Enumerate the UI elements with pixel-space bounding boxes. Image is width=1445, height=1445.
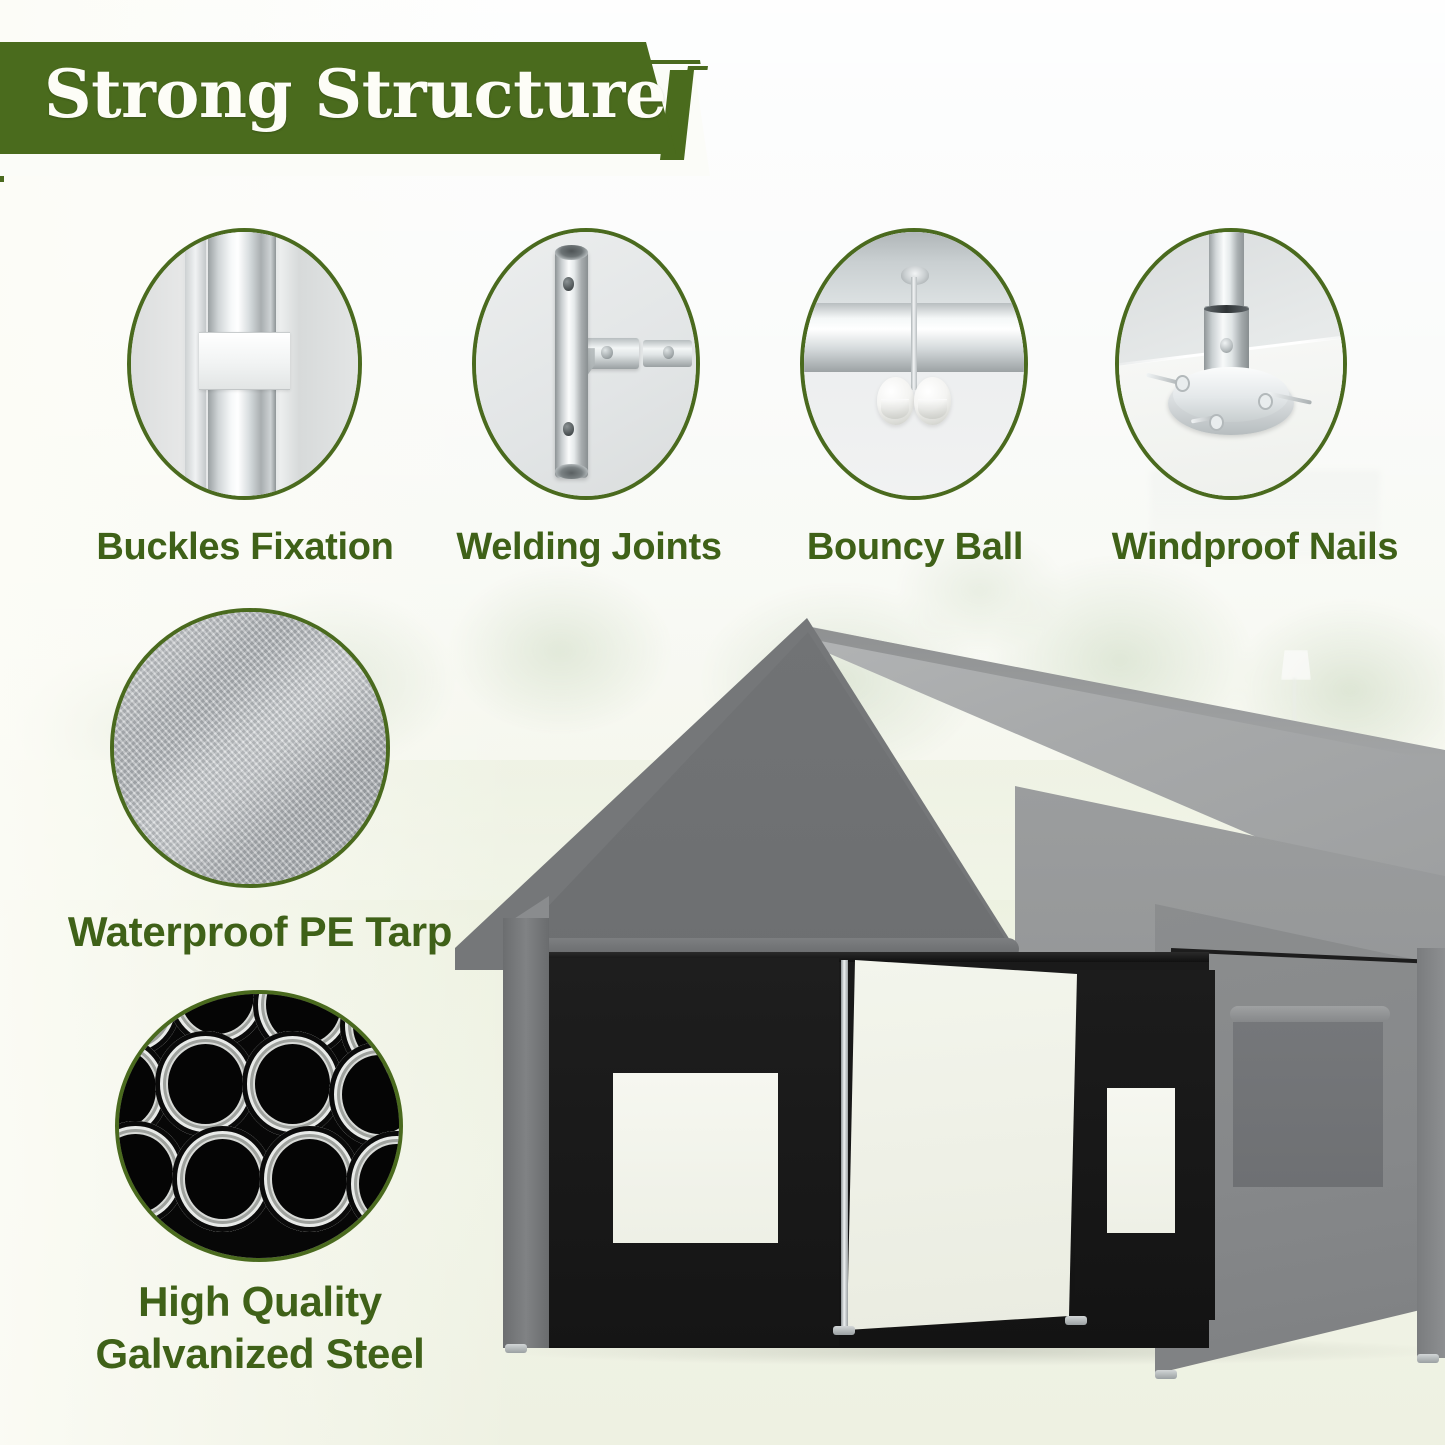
infographic-canvas: Strong Structure Buckles Fixation Weldin… xyxy=(0,0,1445,1445)
feature-label-welding-joints: Welding Joints xyxy=(424,526,754,569)
carport-front-leg xyxy=(503,918,549,1348)
welding-joints-icon xyxy=(472,228,700,500)
bouncy-ball-icon xyxy=(800,228,1028,500)
waterproof-pe-tarp-icon xyxy=(110,608,390,888)
windproof-nails-icon xyxy=(1115,228,1347,500)
feature-label-buckles-fixation: Buckles Fixation xyxy=(60,526,430,569)
carport-foot-plate xyxy=(1417,1354,1439,1363)
carport-foot-plate xyxy=(505,1344,527,1353)
header-banner: Strong Structure xyxy=(0,36,760,186)
carport-canopy-product xyxy=(455,618,1445,1418)
feature-label-bouncy-ball: Bouncy Ball xyxy=(760,526,1070,569)
carport-rear-panel-window xyxy=(1107,1088,1175,1233)
carport-front-panel-window xyxy=(613,1073,778,1243)
carport-foot-plate xyxy=(1065,1316,1087,1325)
page-title: Strong Structure xyxy=(44,44,644,144)
carport-foot-plate xyxy=(1155,1370,1177,1379)
carport-side-window xyxy=(1233,1022,1383,1187)
carport-rear-leg xyxy=(1417,948,1445,1358)
galvanized-steel-icon xyxy=(115,990,403,1262)
feature-label-galvanized-steel-line1: High Quality xyxy=(40,1278,480,1325)
carport-open-door-panel xyxy=(847,960,1077,1330)
carport-foot-plate xyxy=(833,1326,855,1335)
carport-rolled-awning xyxy=(1230,1006,1390,1022)
feature-label-waterproof-pe-tarp: Waterproof PE Tarp xyxy=(50,908,470,955)
feature-label-windproof-nails: Windproof Nails xyxy=(1070,526,1440,569)
feature-label-galvanized-steel-line2: Galvanized Steel xyxy=(40,1330,480,1377)
buckles-fixation-icon xyxy=(127,228,362,500)
carport-center-pole xyxy=(841,960,848,1330)
